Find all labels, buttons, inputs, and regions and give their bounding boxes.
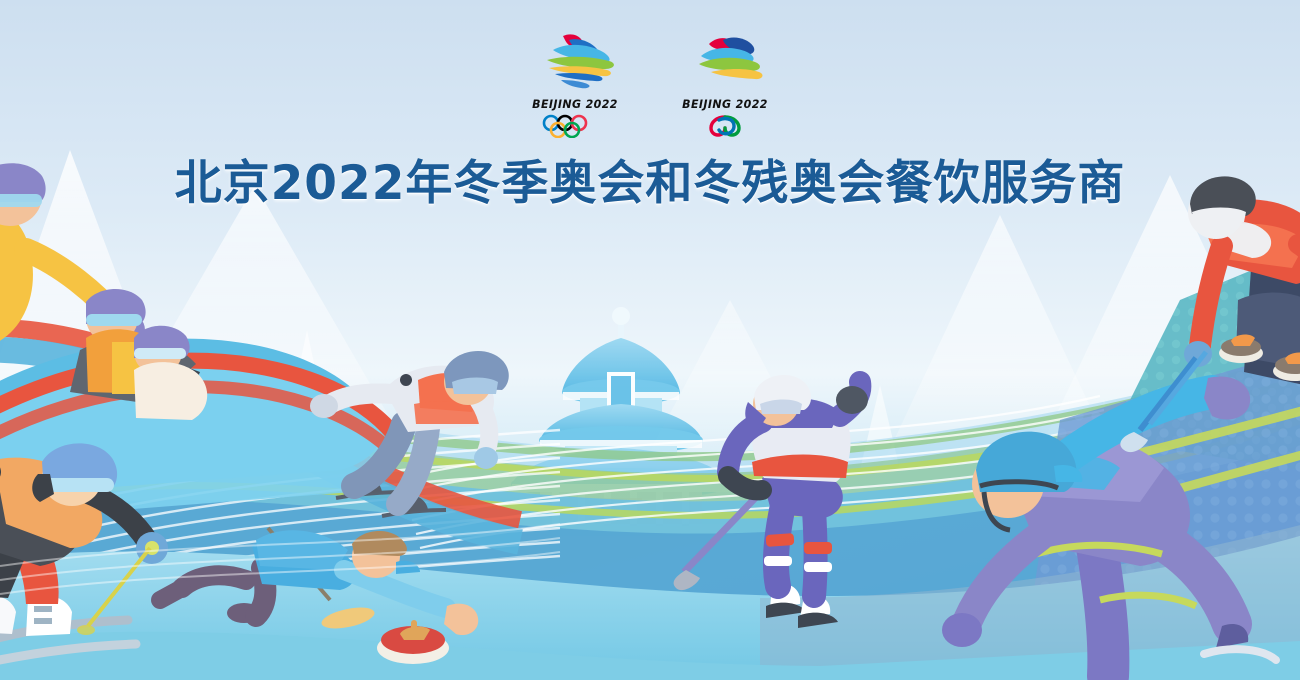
logo-row: BEIJING 2022 (0, 30, 1300, 135)
olympic-emblem-mark (525, 30, 625, 92)
ice-hockey-player (674, 375, 868, 628)
hand (444, 604, 478, 635)
olympic-rings-icon (525, 113, 625, 139)
beijing-2022-paralympic-logo: BEIJING 2022 (675, 30, 775, 135)
glove (942, 613, 982, 647)
glove (310, 394, 338, 418)
hockey-glove (836, 386, 868, 414)
beijing-2022-olympic-logo: BEIJING 2022 (525, 30, 625, 135)
stick-blade (674, 570, 700, 590)
paralympic-emblem-mark (675, 30, 775, 92)
glove (1204, 376, 1250, 419)
olympic-wordmark: BEIJING 2022 (525, 98, 625, 112)
page-title: 北京2022年冬季奥会和冬残奥会餐饮服务商 (0, 144, 1300, 213)
glove (474, 447, 498, 469)
paralympic-wordmark: BEIJING 2022 (675, 98, 775, 112)
visor (452, 378, 498, 395)
beijing-2022-catering-banner: BEIJING 2022 (0, 0, 1300, 680)
paralympic-agitos-icon (675, 113, 775, 139)
speed-skater (942, 376, 1276, 676)
